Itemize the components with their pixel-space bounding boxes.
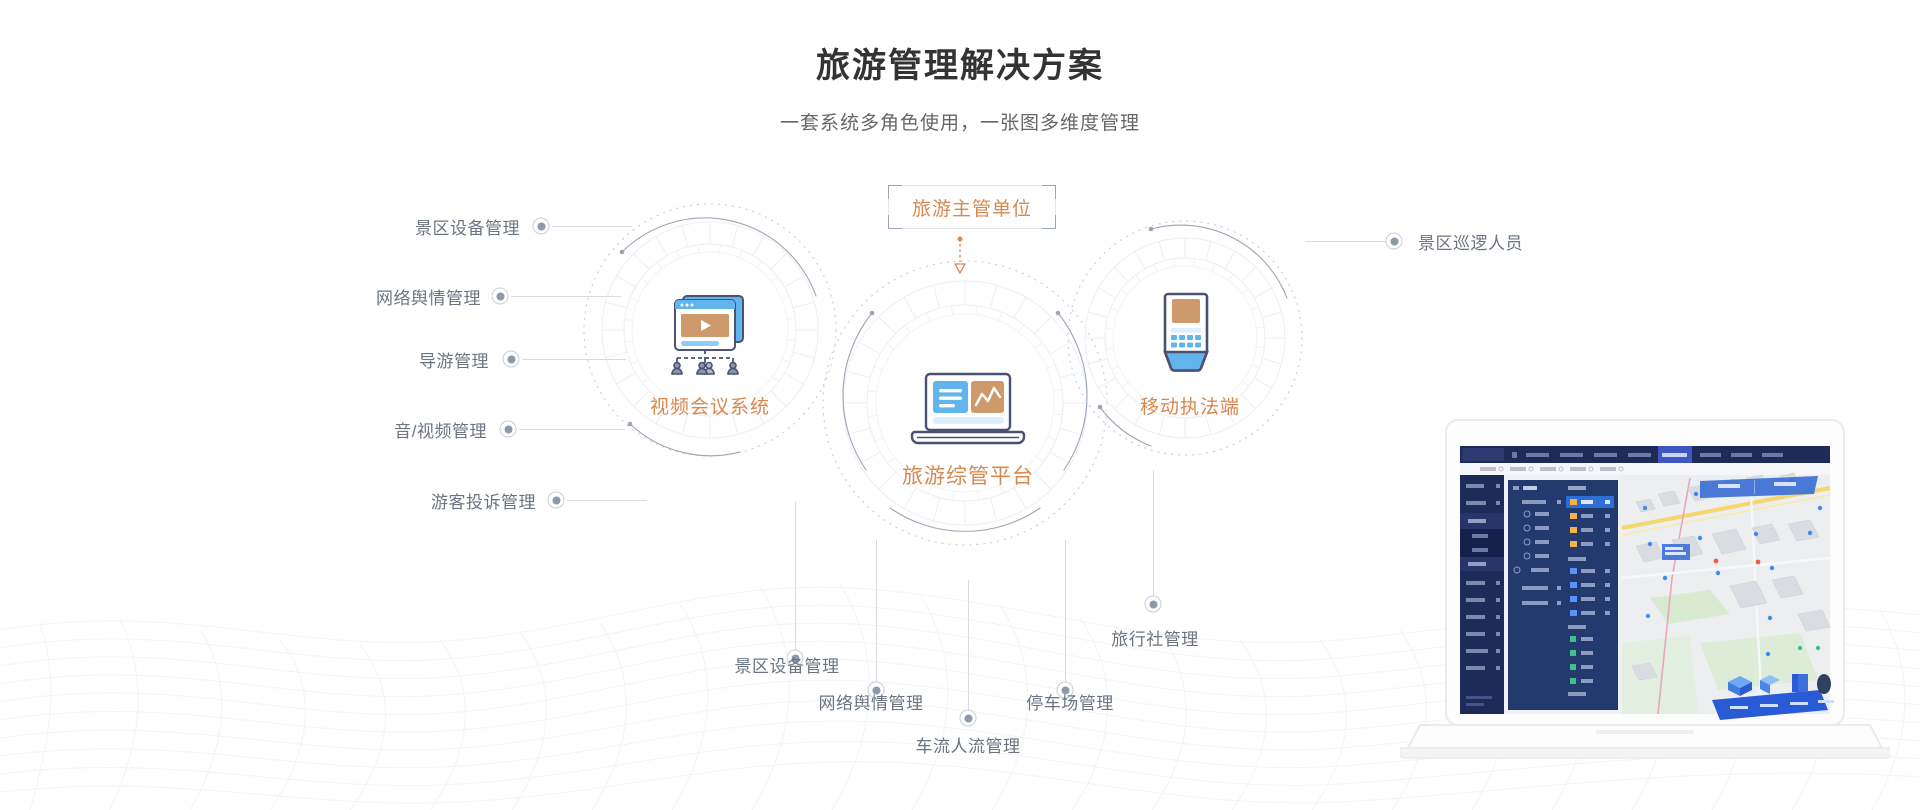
bottom-label-0: 景区设备管理	[735, 652, 840, 677]
top-authority-badge-label: 旅游主管单位	[912, 194, 1032, 221]
left-dot-2[interactable]	[503, 351, 520, 368]
badge-corner-top-left	[888, 185, 902, 199]
left-line-0	[552, 226, 632, 227]
node-label-tourism-platform: 旅游综管平台	[902, 460, 1034, 490]
badge-corner-bottom-right	[1042, 215, 1056, 229]
badge-edge-bottom	[902, 228, 1042, 229]
badge-edge-top	[902, 185, 1042, 186]
left-dot-4[interactable]	[548, 492, 565, 509]
bottom-label-1: 网络舆情管理	[819, 689, 924, 714]
left-dot-0[interactable]	[533, 218, 550, 235]
top-authority-badge: 旅游主管单位	[888, 185, 1056, 229]
bottom-label-3: 停车场管理	[1026, 689, 1114, 714]
left-label-0: 景区设备管理	[415, 214, 520, 239]
left-dot-3[interactable]	[500, 421, 517, 438]
left-line-3	[519, 429, 625, 430]
left-line-4	[567, 500, 647, 501]
left-dot-1[interactable]	[492, 288, 509, 305]
bottom-line-4	[1153, 470, 1154, 600]
badge-down-arrow-icon	[953, 236, 967, 276]
bottom-dot-4[interactable]	[1145, 596, 1162, 613]
badge-edge-left	[888, 199, 889, 215]
right-dot-0[interactable]	[1386, 233, 1403, 250]
badge-edge-right	[1055, 199, 1056, 215]
bottom-line-3	[1065, 540, 1066, 684]
page-subtitle: 一套系统多角色使用，一张图多维度管理	[0, 108, 1920, 135]
left-line-1	[511, 296, 621, 297]
bottom-label-4: 旅行社管理	[1111, 625, 1199, 650]
left-label-2: 导游管理	[419, 347, 489, 372]
left-label-3: 音/视频管理	[394, 417, 487, 442]
badge-corner-bottom-left	[888, 215, 902, 229]
node-label-video-conference: 视频会议系统	[650, 392, 770, 419]
node-label-mobile-enforcement: 移动执法端	[1140, 392, 1240, 419]
bottom-line-0	[795, 502, 796, 650]
left-label-4: 游客投诉管理	[431, 488, 536, 513]
bottom-label-2: 车流人流管理	[916, 732, 1021, 757]
bottom-line-2	[968, 580, 969, 713]
page-root: 旅游管理解决方案 一套系统多角色使用，一张图多维度管理 旅游主管单位	[0, 0, 1920, 810]
right-label-0: 景区巡逻人员	[1418, 229, 1523, 254]
page-title: 旅游管理解决方案	[0, 38, 1920, 87]
bottom-line-1	[876, 540, 877, 684]
left-label-1: 网络舆情管理	[376, 284, 481, 309]
laptop-dashboard-icon	[909, 372, 1027, 448]
laptop-preview	[1400, 418, 1890, 808]
bottom-dot-2[interactable]	[960, 710, 977, 727]
video-window-icon	[655, 290, 765, 375]
left-line-2	[522, 359, 626, 360]
badge-corner-top-right	[1042, 185, 1056, 199]
handheld-terminal-icon	[1154, 290, 1218, 378]
